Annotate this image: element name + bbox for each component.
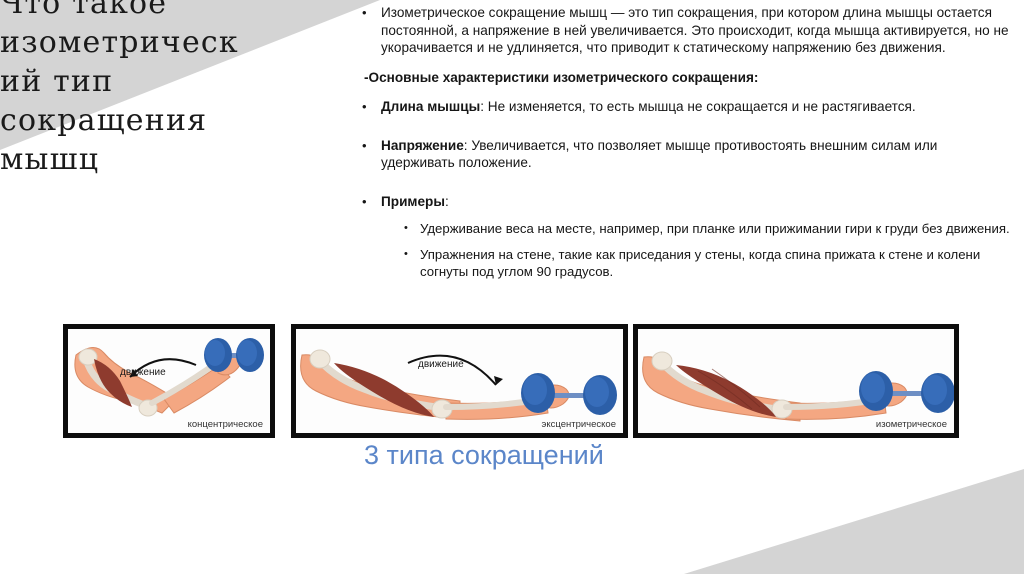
body-content: • Изометрическое сокращение мышц — это т… <box>362 4 1012 289</box>
bullet-marker: • <box>404 220 420 237</box>
spacer <box>362 182 1012 193</box>
list-item-body: Не изменяется, то есть мышца не сокращае… <box>488 99 916 114</box>
eccentric-arm-illustration <box>296 329 623 433</box>
figure-panel-concentric: движение концентрическое <box>63 324 275 438</box>
section-heading: -Основные характеристики изометрического… <box>364 69 1012 87</box>
figure-panel-eccentric: движение эксцентрическое <box>291 324 628 438</box>
list-item: • Напряжение: Увеличивается, что позволя… <box>362 137 1012 172</box>
list-item-text: Примеры: <box>381 193 1012 211</box>
figure-caption: 3 типа сокращений <box>364 440 604 471</box>
page-title: Что такое изометрическ ий тип сокращения… <box>0 0 300 179</box>
concentric-arm-illustration <box>68 329 270 433</box>
bullet-marker: • <box>362 137 381 155</box>
figure-strip: движение концентрическое <box>63 324 963 438</box>
list-item-label: Напряжение <box>381 138 464 153</box>
figure-panel-isometric: изометрическое <box>633 324 959 438</box>
motion-label: движение <box>120 367 166 378</box>
bullet-marker: • <box>362 4 381 22</box>
bullet-marker: • <box>362 193 381 211</box>
intro-paragraph-text: Изометрическое сокращение мышц — это тип… <box>381 4 1012 57</box>
sub-list-item-text: Упражнения на стене, такие как приседани… <box>420 246 1012 280</box>
panel-label-eccentric: эксцентрическое <box>542 419 616 430</box>
list-item-label: Длина мышцы <box>381 99 480 114</box>
spacer <box>362 126 1012 137</box>
list-item: • Примеры: <box>362 193 1012 211</box>
panel-label-isometric: изометрическое <box>876 419 947 430</box>
bullet-marker: • <box>404 246 420 263</box>
list-item-text: Напряжение: Увеличивается, что позволяет… <box>381 137 1012 172</box>
sub-list-item: • Удерживание веса на месте, например, п… <box>404 220 1012 237</box>
list-item-label: Примеры <box>381 194 445 209</box>
sub-list: • Удерживание веса на месте, например, п… <box>404 220 1012 280</box>
motion-label: движение <box>418 359 464 370</box>
list-item: • Длина мышцы: Не изменяется, то есть мы… <box>362 98 1012 116</box>
slide-canvas: Что такое изометрическ ий тип сокращения… <box>0 0 1024 574</box>
list-item-separator: : <box>445 194 449 209</box>
intro-paragraph: • Изометрическое сокращение мышц — это т… <box>362 4 1012 57</box>
sub-list-item: • Упражнения на стене, такие как приседа… <box>404 246 1012 280</box>
bullet-marker: • <box>362 98 381 116</box>
list-item-text: Длина мышцы: Не изменяется, то есть мышц… <box>381 98 1012 116</box>
panel-label-concentric: концентрическое <box>188 419 263 430</box>
list-item-separator: : <box>480 99 488 114</box>
background-wedge-bottom-right <box>684 469 1024 574</box>
sub-list-item-text: Удерживание веса на месте, например, при… <box>420 220 1012 237</box>
isometric-arm-illustration <box>638 329 954 433</box>
